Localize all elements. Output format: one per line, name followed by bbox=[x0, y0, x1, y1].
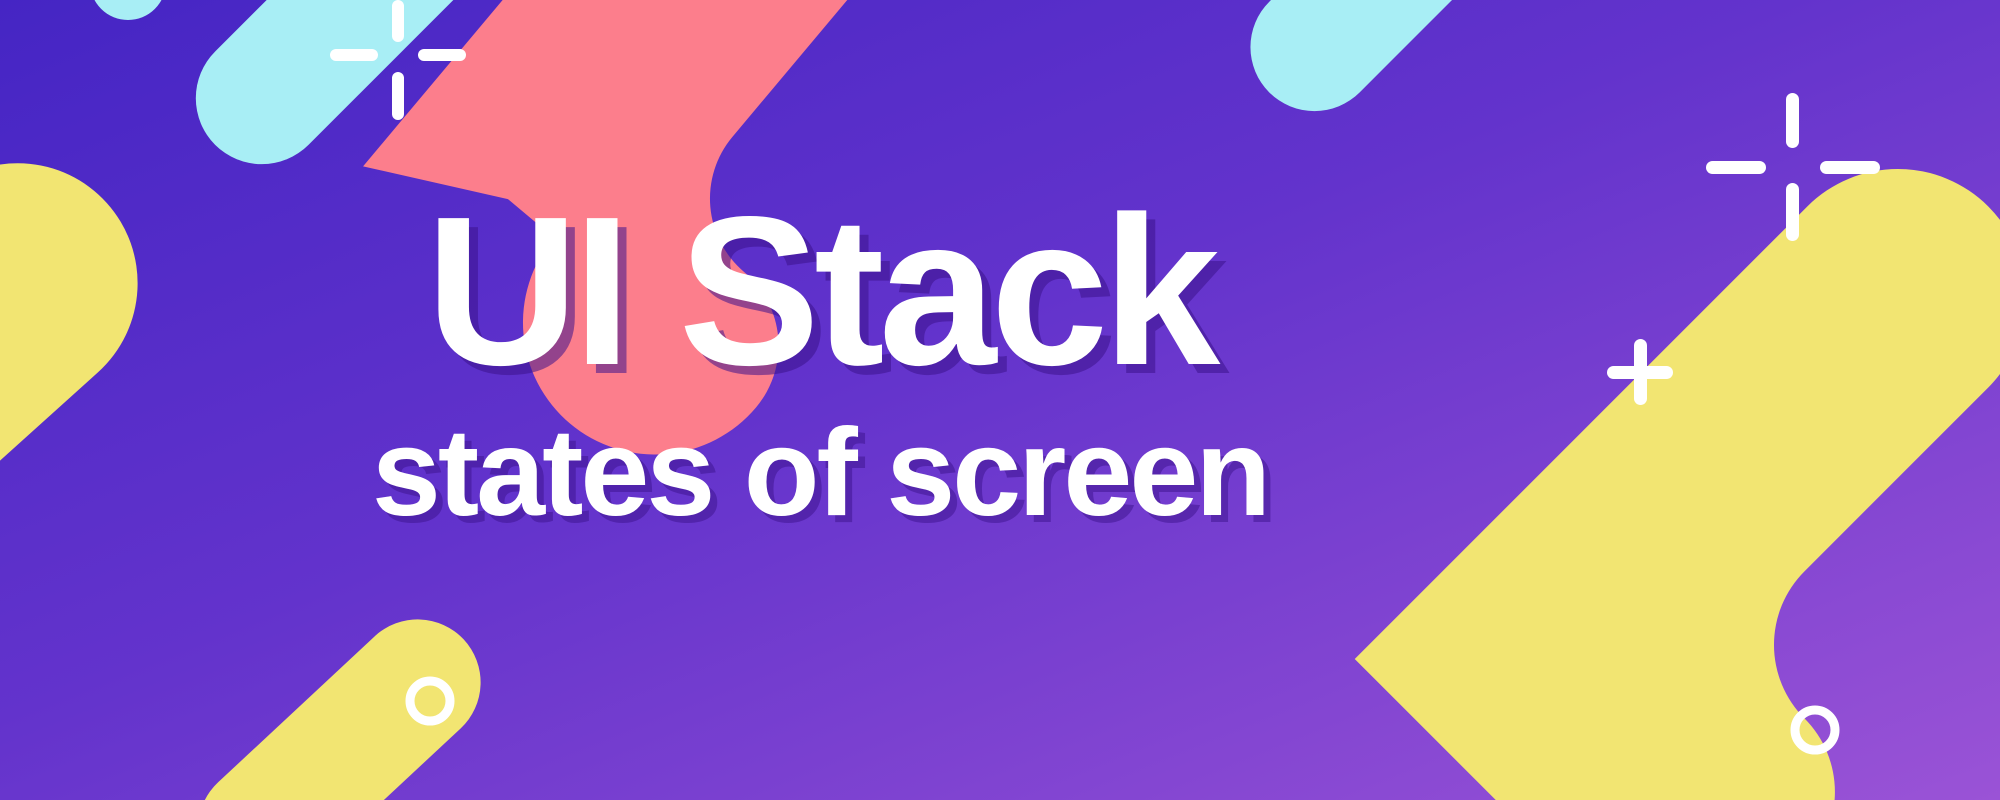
decorative-artwork bbox=[0, 0, 2000, 800]
hero-banner: UI Stack states of screen bbox=[0, 0, 2000, 800]
